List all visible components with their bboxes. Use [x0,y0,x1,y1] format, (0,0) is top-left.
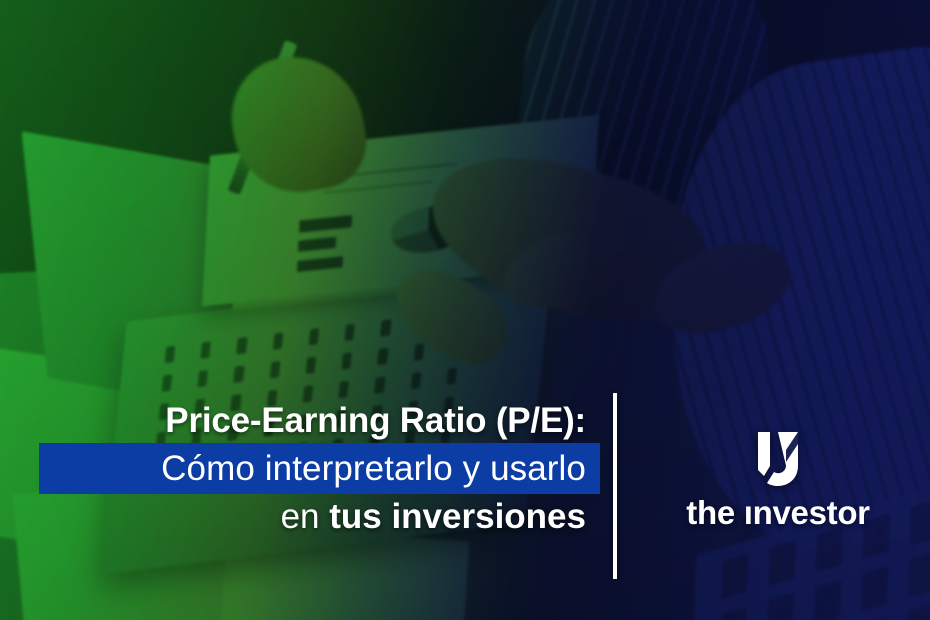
vertical-divider [613,393,617,579]
u-monogram-icon [752,430,804,488]
title-line-2-wrapper: Cómo interpretarlo y usarlo [0,443,600,494]
brand-wordmark-the: the [686,494,735,531]
brand-wordmark: the ınvestor [648,494,908,532]
brand-logo: the ınvestor [648,430,908,532]
blog-cover-image: Price-Earning Ratio (P/E): Cómo interpre… [0,0,930,620]
brand-wordmark-investor: ınvestor [744,494,870,531]
title-line-1: Price-Earning Ratio (P/E): [0,403,600,439]
title-line-3-bold: tus inversiones [329,497,586,536]
title-line-2: Cómo interpretarlo y usarlo [0,443,600,494]
title-line-3-light: en [281,497,330,536]
title-line-3: en tus inversiones [0,499,600,535]
cover-content: Price-Earning Ratio (P/E): Cómo interpre… [0,0,930,620]
cover-title-block: Price-Earning Ratio (P/E): Cómo interpre… [0,403,600,536]
